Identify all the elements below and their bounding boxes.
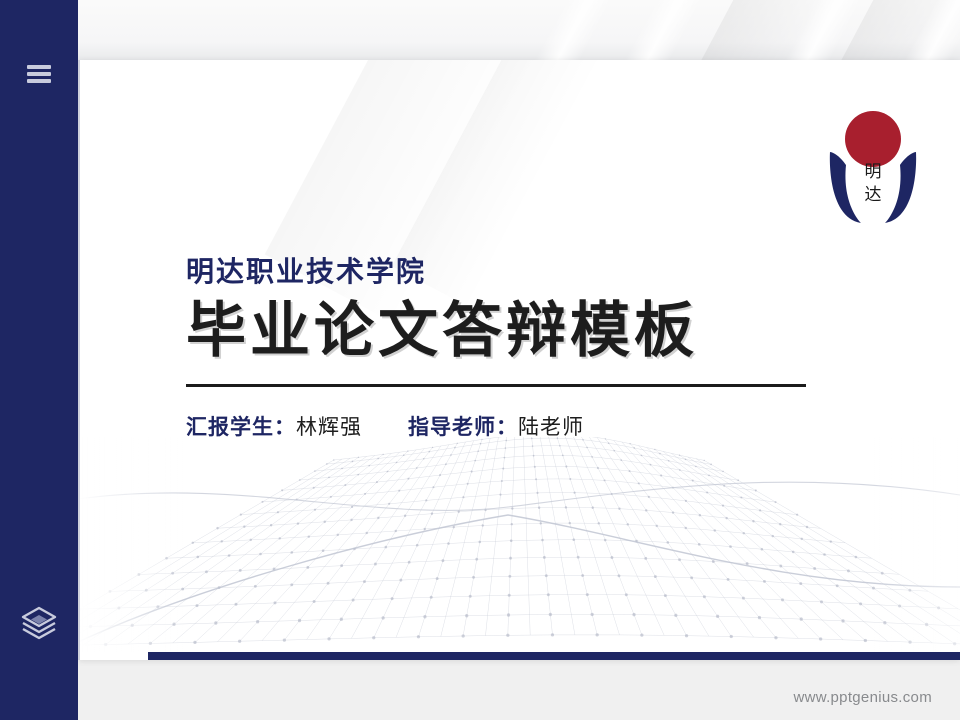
hamburger-menu-icon xyxy=(27,65,51,83)
presenter-separator: ： xyxy=(274,416,296,439)
presenter-name: 林辉强 xyxy=(296,416,362,439)
layers-stack-icon xyxy=(19,604,59,640)
page-title: 毕业论文答辩模板 xyxy=(186,297,826,364)
layers-button[interactable] xyxy=(0,596,78,648)
left-toolbar-rail xyxy=(0,0,78,720)
watermark: www.pptgenius.com xyxy=(794,689,933,706)
crest-red-circle xyxy=(845,111,901,167)
menu-button[interactable] xyxy=(0,48,78,100)
school-name: 明达职业技术学院 xyxy=(186,255,826,289)
presenter-label: 汇报学生 xyxy=(186,416,274,439)
school-crest-logo: 明 达 xyxy=(824,105,922,225)
slide-left-edge xyxy=(78,60,80,660)
advisor-name: 陆老师 xyxy=(518,416,584,439)
crest-left-wing xyxy=(830,152,861,223)
crest-char-bottom: 达 xyxy=(865,185,882,205)
wireframe-wave-mesh xyxy=(78,437,960,652)
title-divider xyxy=(186,384,806,387)
advisor-separator: ： xyxy=(496,416,518,439)
slide-bottom-accent-bar xyxy=(148,652,960,660)
slide-canvas[interactable]: 明 达 明达职业技术学院 毕业论文答辩模板 汇报学生：林辉强指导老师：陆老师 xyxy=(78,60,960,660)
title-block: 明达职业技术学院 毕业论文答辩模板 汇报学生：林辉强指导老师：陆老师 xyxy=(186,255,826,441)
presentation-viewer: 明 达 明达职业技术学院 毕业论文答辩模板 汇报学生：林辉强指导老师：陆老师 xyxy=(0,0,960,720)
crest-right-wing xyxy=(885,152,916,223)
advisor-label: 指导老师 xyxy=(408,416,496,439)
crest-char-top: 明 xyxy=(865,162,882,182)
top-decorative-band xyxy=(78,0,960,60)
